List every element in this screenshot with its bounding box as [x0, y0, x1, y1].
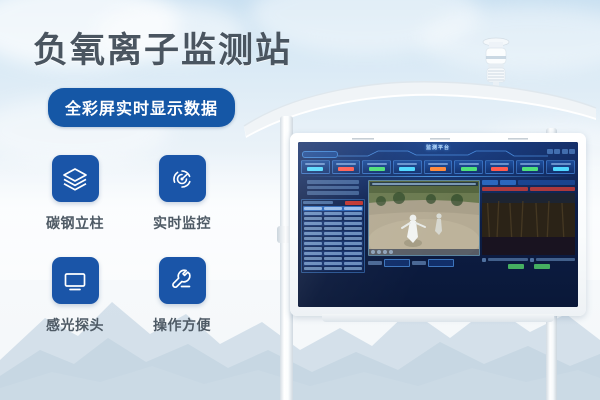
toolbar-icon[interactable]	[547, 149, 553, 154]
panel-tabs[interactable]	[482, 180, 575, 185]
secondary-camera-view[interactable]	[482, 193, 575, 255]
readout-value	[508, 264, 524, 269]
feature-grid: 碳钢立柱 实时监控	[44, 155, 244, 335]
feature-label: 感光探头	[46, 315, 104, 335]
filter-label	[368, 261, 382, 265]
table-cell	[324, 237, 342, 240]
feature-item: 实时监控	[151, 155, 213, 233]
feature-label: 操作方便	[153, 315, 211, 335]
metric-card[interactable]	[362, 160, 391, 174]
table-cell	[344, 237, 362, 240]
table-toolbar	[303, 201, 363, 205]
table-cell	[324, 247, 342, 250]
metric-label	[428, 163, 448, 166]
table-cell	[344, 232, 362, 235]
metric-card-row	[301, 160, 575, 174]
metric-value	[430, 167, 446, 171]
metric-label	[459, 163, 479, 166]
summary-row	[307, 191, 359, 195]
readout-value	[534, 264, 550, 269]
table-cell	[324, 252, 342, 255]
metric-card[interactable]	[454, 160, 483, 174]
video-feed[interactable]	[368, 180, 480, 256]
table-cell	[304, 262, 322, 265]
status-dot	[482, 258, 486, 262]
table-cell	[344, 267, 362, 270]
table-cell	[324, 262, 342, 265]
readout-values	[482, 264, 575, 269]
play-icon[interactable]	[371, 250, 375, 254]
metric-label	[490, 163, 510, 166]
table-cell	[324, 232, 342, 235]
table-cell	[324, 222, 342, 225]
metric-value	[399, 167, 415, 171]
video-panel	[368, 180, 478, 291]
metric-card[interactable]	[332, 160, 361, 174]
table-cell	[324, 212, 342, 215]
table-cell	[304, 237, 322, 240]
table-cell	[324, 217, 342, 220]
feature-item: 碳钢立柱	[44, 155, 106, 233]
table-cell	[304, 227, 322, 230]
fullscreen-icon[interactable]	[389, 250, 393, 254]
pause-icon[interactable]	[377, 250, 381, 254]
dashboard-toolbar[interactable]	[547, 149, 576, 154]
metric-value	[307, 167, 323, 171]
video-caption-bar	[370, 182, 478, 186]
table-cell	[344, 247, 362, 250]
video-filter-controls[interactable]	[368, 259, 478, 267]
feature-label: 实时监控	[153, 213, 211, 233]
feature-item: 操作方便	[151, 257, 213, 335]
video-caption-text	[372, 183, 476, 185]
table-cell	[304, 267, 322, 270]
video-controls[interactable]	[369, 249, 479, 255]
subtitle-badge: 全彩屏实时显示数据	[48, 88, 235, 127]
toolbar-icon[interactable]	[562, 149, 568, 154]
radar-icon	[159, 155, 206, 202]
metric-label	[551, 163, 571, 166]
filter-select[interactable]	[428, 259, 454, 267]
led-screen[interactable]: 监测平台	[298, 142, 578, 307]
table-cell	[344, 252, 362, 255]
status-dot	[530, 258, 534, 262]
table-cell	[324, 227, 342, 230]
snapshot-icon[interactable]	[383, 250, 387, 254]
table-cell	[304, 232, 322, 235]
tab-item[interactable]	[500, 180, 516, 185]
table-cell	[344, 222, 362, 225]
table-cell	[344, 227, 362, 230]
layers-icon	[52, 155, 99, 202]
table-cell	[344, 217, 362, 220]
camera-scene	[482, 193, 575, 255]
table-cell	[304, 217, 322, 220]
toolbar-icon[interactable]	[569, 149, 575, 154]
table-cell	[324, 267, 342, 270]
column-header	[324, 207, 342, 210]
alert-banner	[530, 187, 576, 191]
metric-card[interactable]	[301, 160, 330, 174]
metric-card[interactable]	[516, 160, 545, 174]
table-cell	[344, 242, 362, 245]
monitoring-station: 监测平台	[230, 28, 600, 400]
header-wave-decoration	[298, 148, 578, 160]
board-base	[322, 314, 554, 322]
display-board: 监测平台	[290, 133, 586, 316]
tab-item[interactable]	[482, 180, 498, 185]
panel-search[interactable]	[518, 180, 575, 185]
metric-value	[553, 167, 569, 171]
section-divider	[301, 176, 575, 177]
table-cell	[304, 252, 322, 255]
toolbar-icon[interactable]	[554, 149, 560, 154]
readout-footer	[482, 258, 575, 269]
metric-label	[397, 163, 417, 166]
metric-card[interactable]	[393, 160, 422, 174]
data-table[interactable]	[301, 199, 365, 274]
column-header	[304, 207, 322, 210]
readout-label	[536, 258, 576, 261]
metric-value	[522, 167, 538, 171]
metric-card[interactable]	[546, 160, 575, 174]
table-cell	[304, 257, 322, 260]
table-cell	[344, 212, 362, 215]
metric-value	[491, 167, 507, 171]
metric-card[interactable]	[424, 160, 453, 174]
monitor-icon	[52, 257, 99, 304]
promo-banner: 负氧离子监测站 全彩屏实时显示数据 碳钢立柱	[0, 0, 600, 400]
alarm-button[interactable]	[345, 201, 363, 205]
table-cell	[344, 257, 362, 260]
column-header	[344, 207, 362, 210]
readout-labels	[482, 258, 575, 262]
alert-banner-row	[482, 187, 575, 191]
filter-label	[412, 261, 426, 265]
metric-label	[367, 163, 387, 166]
metric-label	[520, 163, 540, 166]
summary-row	[307, 186, 359, 190]
table-cell	[304, 242, 322, 245]
table-cell	[324, 242, 342, 245]
feature-label: 碳钢立柱	[46, 213, 104, 233]
table-cell	[304, 212, 322, 215]
table-body	[303, 211, 363, 271]
alert-panel	[482, 180, 575, 291]
table-cell	[304, 222, 322, 225]
table-row[interactable]	[303, 266, 363, 271]
feature-item: 感光探头	[44, 257, 106, 335]
data-table-panel	[301, 180, 365, 291]
metric-value	[338, 167, 354, 171]
alert-banner	[482, 187, 528, 191]
dashboard: 监测平台	[298, 142, 578, 307]
video-scene	[369, 181, 479, 255]
metric-label	[305, 163, 325, 166]
wrench-icon	[159, 257, 206, 304]
summary-row	[307, 180, 359, 184]
metric-value	[369, 167, 385, 171]
table-cell	[344, 262, 362, 265]
metric-card[interactable]	[485, 160, 514, 174]
filter-select[interactable]	[384, 259, 410, 267]
metric-label	[336, 163, 356, 166]
table-cell	[324, 257, 342, 260]
metric-value	[461, 167, 477, 171]
readout-label	[488, 258, 528, 261]
table-cell	[304, 247, 322, 250]
table-title	[303, 201, 333, 205]
